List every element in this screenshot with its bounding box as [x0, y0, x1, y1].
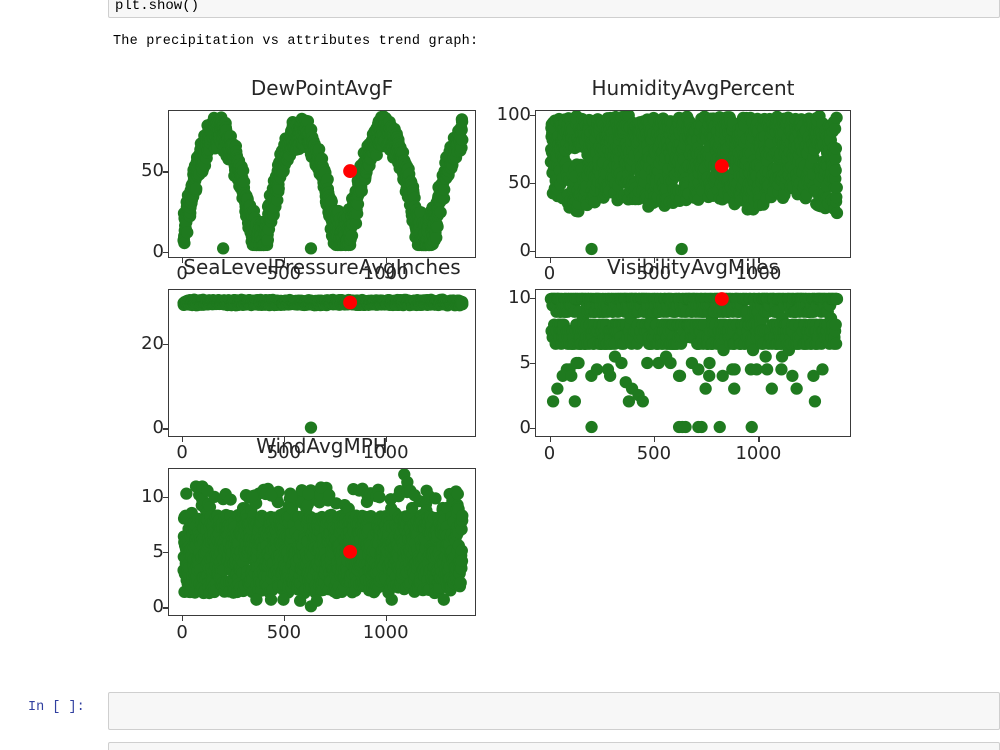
axes-frame-visibilityavgmiles [535, 289, 851, 437]
xtick-label-pressure-0: 0 [176, 444, 187, 462]
subplot-title-sealevelpressureavginches: SeaLevelPressureAvgInches [183, 257, 460, 277]
axes-frame-humidityavgpercent [535, 110, 851, 258]
subplot-dewpointavgf: DewPointAvgF 0 50 0 500 1000 [168, 110, 476, 258]
ytick-label-pressure-0: 0 [153, 419, 164, 437]
cell-output-text: The precipitation vs attributes trend gr… [113, 34, 478, 49]
xtick-mark [284, 616, 285, 621]
code-cell-above[interactable]: plt.show() [108, 0, 1000, 18]
axes-frame-windavgmph [168, 468, 476, 616]
ytick-label-wind-10: 10 [141, 488, 164, 506]
xtick-mark [758, 437, 759, 442]
ytick-label-humidity-100: 100 [497, 106, 531, 124]
axes-frame-sealevelpressureavginches [168, 289, 476, 437]
ytick-label-dewpointavgf-50: 50 [141, 162, 164, 180]
xtick-label-visibility-0: 0 [544, 445, 555, 463]
ytick-label-wind-0: 0 [153, 598, 164, 616]
scatter-canvas-sealevelpressureavginches [169, 290, 475, 436]
highlight-point [715, 292, 729, 306]
xtick-label-visibility-500: 500 [637, 445, 671, 463]
input-cell-next[interactable] [108, 742, 1000, 750]
highlight-point [343, 296, 357, 310]
subplot-sealevelpressureavginches: SeaLevelPressureAvgInches 0 20 0 500 100… [168, 289, 476, 437]
ytick-label-humidity-50: 50 [508, 174, 531, 192]
xtick-mark [386, 616, 387, 621]
subplot-title-dewpointavgf: DewPointAvgF [251, 78, 393, 98]
ytick-label-dewpointavgf-0: 0 [153, 243, 164, 261]
input-cell[interactable] [108, 692, 1000, 730]
highlight-point [343, 545, 357, 559]
scatter-canvas-dewpointavgf [169, 111, 475, 257]
ytick-label-visibility-10: 10 [508, 289, 531, 307]
ytick-label-wind-5: 5 [153, 543, 164, 561]
xtick-label-wind-0: 0 [176, 624, 187, 642]
subplot-humidityavgpercent: HumidityAvgPercent 0 50 100 0 500 1000 [535, 110, 851, 258]
highlight-point [343, 164, 357, 178]
scatter-canvas-humidityavgpercent [536, 111, 850, 257]
subplot-title-windavgmph: WindAvgMPH [256, 436, 388, 456]
xtick-label-visibility-1000: 1000 [735, 445, 781, 463]
ytick-label-humidity-0: 0 [520, 242, 531, 260]
input-prompt-label: In [ ]: [28, 700, 85, 715]
xtick-label-humidity-0: 0 [544, 265, 555, 283]
xtick-mark [550, 437, 551, 442]
highlight-point [715, 159, 729, 173]
notebook-page: plt.show() The precipitation vs attribut… [0, 0, 1000, 750]
subplot-windavgmph: WindAvgMPH 0 5 10 0 500 1000 [168, 468, 476, 616]
matplotlib-figure: DewPointAvgF 0 50 0 500 1000 HumidityAvg… [0, 60, 1000, 680]
xtick-label-wind-1000: 1000 [363, 624, 409, 642]
scatter-canvas-windavgmph [169, 469, 475, 615]
code-cell-text: plt.show() [115, 0, 199, 14]
axes-frame-dewpointavgf [168, 110, 476, 258]
scatter-canvas-visibilityavgmiles [536, 290, 850, 436]
xtick-mark [182, 616, 183, 621]
ytick-label-pressure-20: 20 [141, 335, 164, 353]
subplot-title-visibilityavgmiles: VisibilityAvgMiles [607, 257, 779, 277]
subplot-title-humidityavgpercent: HumidityAvgPercent [592, 78, 795, 98]
xtick-mark [654, 437, 655, 442]
ytick-label-visibility-0: 0 [520, 419, 531, 437]
xtick-label-wind-500: 500 [267, 624, 301, 642]
ytick-label-visibility-5: 5 [520, 354, 531, 372]
subplot-visibilityavgmiles: VisibilityAvgMiles 0 5 10 0 500 1000 [535, 289, 851, 437]
